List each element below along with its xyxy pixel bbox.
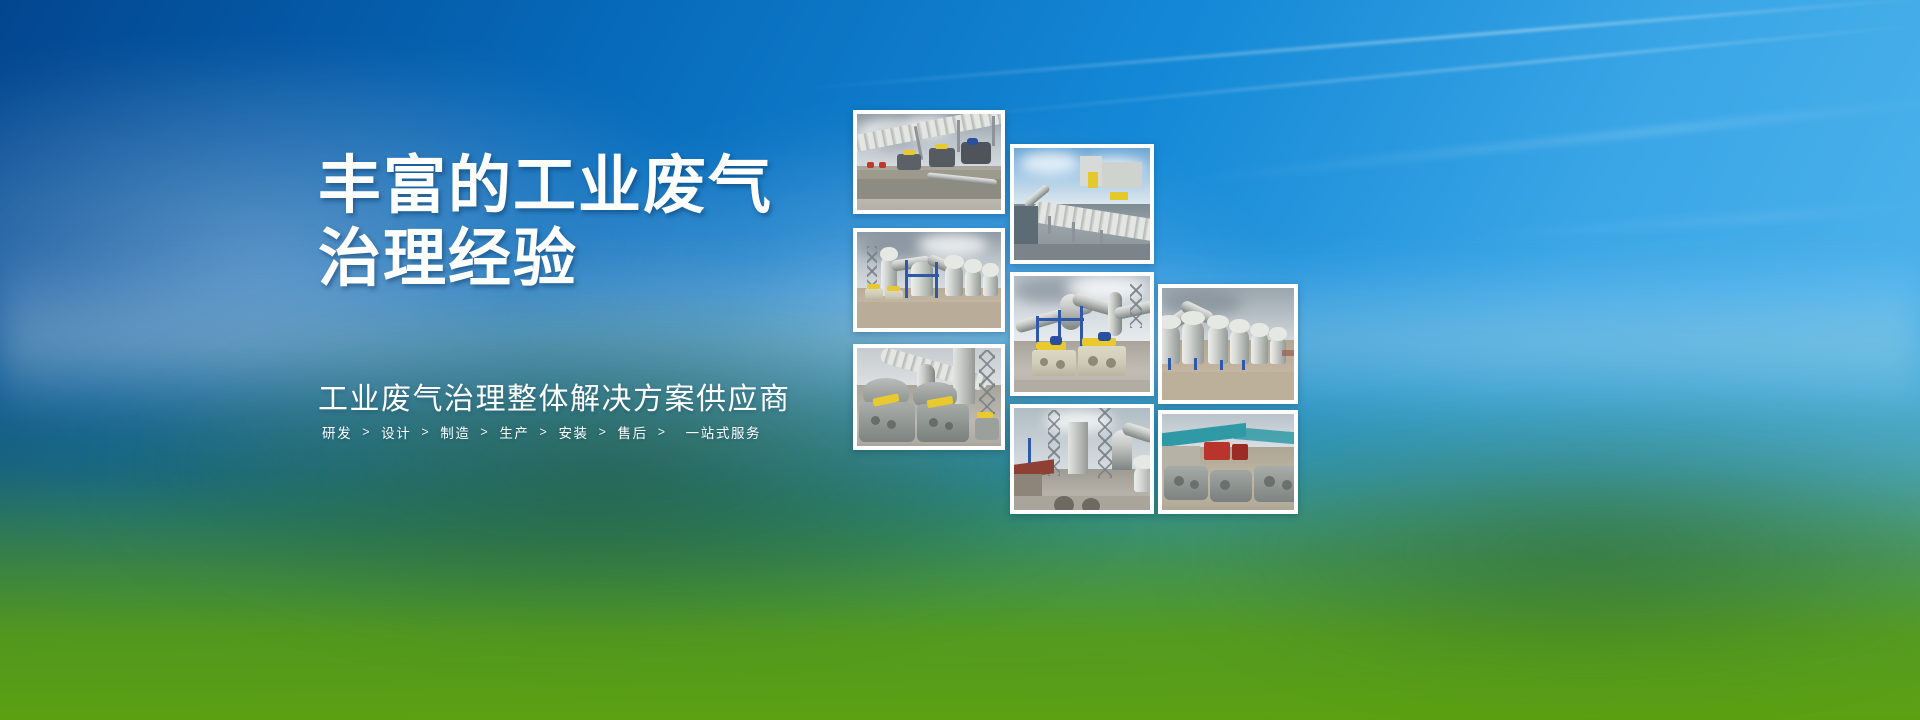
process-step-4: 生产: [498, 422, 530, 442]
collage-photo-5[interactable]: [853, 344, 1005, 450]
process-step-6: 售后: [617, 422, 649, 442]
page-title: 丰富的工业废气 治理经验: [318, 150, 838, 296]
photo-4-image: [1014, 276, 1150, 392]
process-steps: 研发 > 设计 > 制造 > 生产 > 安装 > 售后 > 一站式服务: [321, 422, 762, 442]
process-separator-2: >: [412, 425, 439, 439]
process-final-label: 一站式服务: [676, 422, 763, 442]
photo-2-image: [1014, 148, 1150, 260]
photo-6-image: [1162, 288, 1294, 400]
process-separator-5: >: [590, 425, 617, 439]
photo-8-image: [1162, 414, 1294, 510]
process-separator-4: >: [531, 425, 558, 439]
contrail-line-3: [1180, 99, 1920, 184]
process-step-1: 研发: [321, 422, 353, 442]
process-separator-1: >: [353, 425, 380, 439]
collage-photo-7[interactable]: [1010, 404, 1154, 514]
photo-7-image: [1014, 408, 1150, 510]
hero-banner: 丰富的工业废气 治理经验 工业废气治理整体解决方案供应商 研发 > 设计 > 制…: [0, 0, 1920, 720]
collage-photo-4[interactable]: [1010, 272, 1154, 396]
contrail-line-4: [1430, 203, 1920, 243]
photo-5-image: [857, 348, 1001, 446]
process-separator-3: >: [471, 425, 498, 439]
hero-copy: 丰富的工业废气 治理经验 工业废气治理整体解决方案供应商 研发 > 设计 > 制…: [318, 150, 838, 296]
collage-photo-8[interactable]: [1158, 410, 1298, 514]
collage-photo-3[interactable]: [853, 228, 1005, 332]
process-separator-6: >: [649, 425, 676, 439]
contrail-line-1: [800, 0, 1920, 90]
photo-1-image: [857, 114, 1001, 210]
process-step-3: 制造: [439, 422, 471, 442]
photo-3-image: [857, 232, 1001, 328]
collage-photo-6[interactable]: [1158, 284, 1298, 404]
collage-photo-2[interactable]: [1010, 144, 1154, 264]
contrail-line-2: [930, 24, 1920, 120]
collage-photo-1[interactable]: [853, 110, 1005, 214]
process-step-2: 设计: [380, 422, 412, 442]
hero-subtitle: 工业废气治理整体解决方案供应商: [318, 374, 791, 418]
process-step-5: 安装: [557, 422, 589, 442]
photo-collage: [0, 0, 1920, 720]
